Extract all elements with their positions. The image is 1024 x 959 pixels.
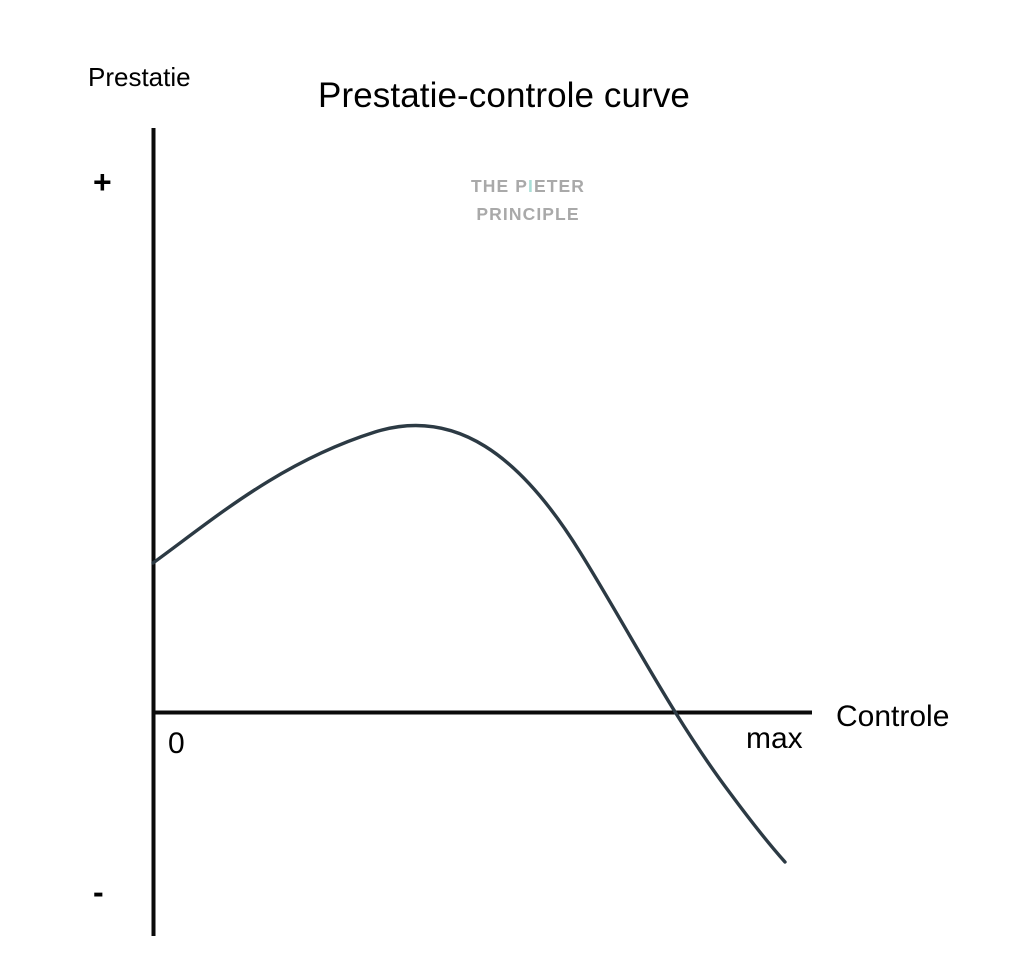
watermark-line1-after: ETER xyxy=(534,176,585,196)
chart-canvas: Prestatie-controle curve Prestatie Contr… xyxy=(0,0,1024,959)
x-axis-label: Controle xyxy=(836,702,949,732)
performance-control-curve-figure xyxy=(0,0,1024,959)
x-axis-tick-max: max xyxy=(746,724,803,754)
watermark-line2: PRINCIPLE xyxy=(476,204,579,224)
page-title: Prestatie-controle curve xyxy=(318,78,690,113)
y-axis-tick-negative: - xyxy=(93,876,104,908)
y-axis-tick-positive: + xyxy=(93,166,112,198)
y-axis-label: Prestatie xyxy=(88,64,191,90)
watermark-line1-before: THE P xyxy=(471,176,528,196)
watermark: THE PIETER PRINCIPLE xyxy=(398,172,658,228)
performance-curve-path xyxy=(153,425,785,862)
x-axis-tick-zero: 0 xyxy=(168,729,185,759)
